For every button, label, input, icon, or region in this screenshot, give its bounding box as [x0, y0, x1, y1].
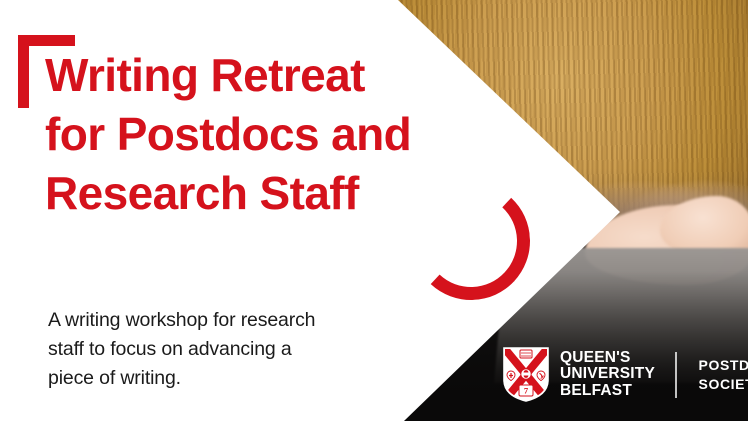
event-poster: Writing Retreat for Postdocs and Researc… — [0, 0, 748, 421]
page-title: Writing Retreat for Postdocs and Researc… — [45, 46, 475, 223]
logo-divider — [675, 352, 677, 398]
queens-university-crest-icon: 7 — [503, 347, 549, 402]
logo-lockup: 7 QUEEN'S UNIVERSITY BELFAST POSTDOC SOC… — [503, 347, 748, 402]
postdoc-society-wordmark: POSTDOC SOCIETY — [699, 356, 748, 394]
university-wordmark: QUEEN'S UNIVERSITY BELFAST — [560, 350, 655, 400]
subtitle-text: A writing workshop for research staff to… — [48, 306, 428, 393]
